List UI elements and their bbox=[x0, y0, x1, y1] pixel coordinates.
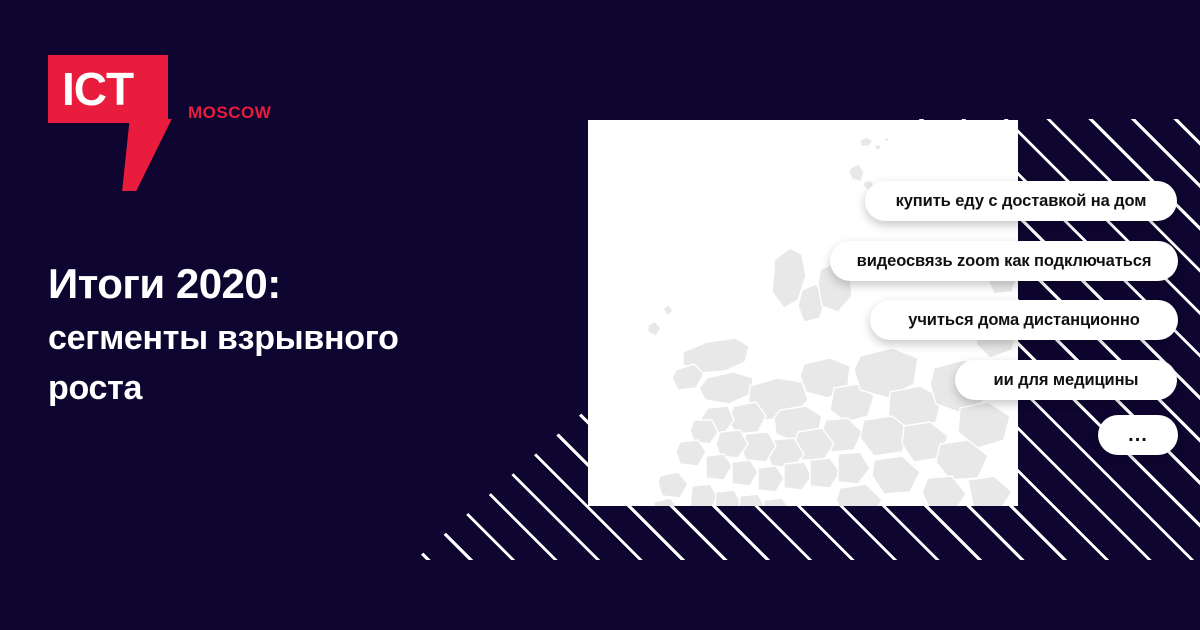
logo-mark-text: ICT bbox=[62, 64, 168, 114]
suggestion-pill[interactable]: учиться дома дистанционно bbox=[870, 300, 1178, 340]
headline-line-2: сегменты взрывного bbox=[48, 316, 518, 360]
suggestion-pill[interactable]: ии для медицины bbox=[955, 360, 1177, 400]
headline-line-1: Итоги 2020: bbox=[48, 258, 518, 310]
ict-moscow-logo[interactable]: ICT MOSCOW bbox=[48, 55, 238, 155]
suggestion-pill-more[interactable]: ... bbox=[1098, 415, 1178, 455]
suggestion-pill[interactable]: купить еду с доставкой на дом bbox=[865, 181, 1177, 221]
logo-bubble-tail bbox=[122, 119, 172, 191]
headline-line-3: роста bbox=[48, 366, 518, 410]
logo-wordmark: MOSCOW bbox=[188, 103, 271, 123]
poster-canvas: ICT MOSCOW Итоги 2020: сегменты взрывног… bbox=[0, 0, 1200, 630]
suggestion-pill[interactable]: видеосвязь zoom как подключаться bbox=[830, 241, 1178, 281]
page-title: Итоги 2020: сегменты взрывного роста bbox=[48, 258, 518, 410]
